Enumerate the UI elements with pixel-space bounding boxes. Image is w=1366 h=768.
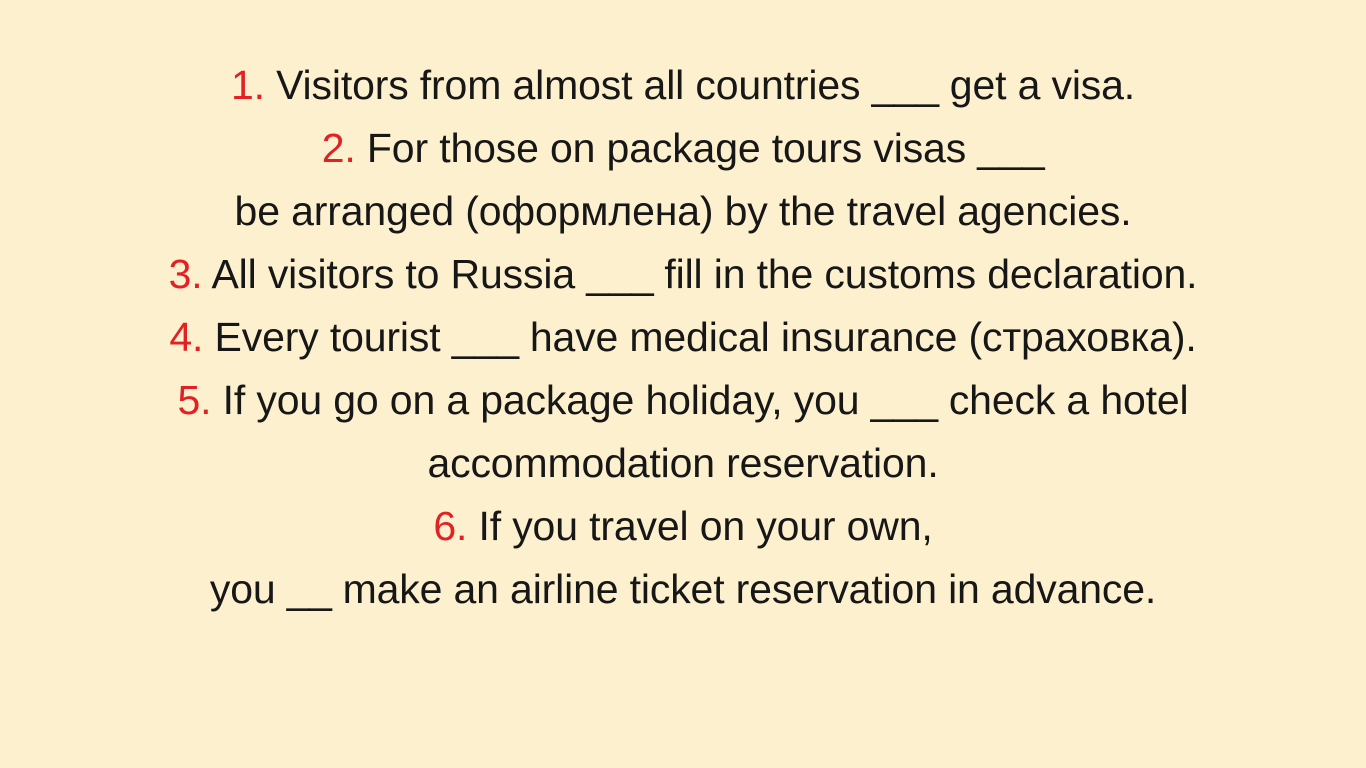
exercise-line-5: 4. Every tourist ___ have medical insura… bbox=[0, 306, 1366, 369]
item-text-9-before: you bbox=[210, 566, 287, 612]
item-text-1-before: Visitors from almost all countries bbox=[265, 62, 872, 108]
item-number-2: 2. bbox=[322, 125, 356, 171]
slide-canvas: 1. Visitors from almost all countries __… bbox=[0, 0, 1366, 768]
exercise-line-9: you __ make an airline ticket reservatio… bbox=[0, 558, 1366, 621]
item-text-5-after: have medical insurance (страховка). bbox=[519, 314, 1197, 360]
item-text-8-before: If you travel on your own, bbox=[467, 503, 932, 549]
exercise-line-8: 6. If you travel on your own, bbox=[0, 495, 1366, 558]
item-text-7-before: accommodation reservation. bbox=[427, 440, 938, 486]
exercise-line-7: accommodation reservation. bbox=[0, 432, 1366, 495]
fill-blank-2: ___ bbox=[977, 125, 1044, 171]
exercise-line-3: be arranged (оформлена) by the travel ag… bbox=[0, 180, 1366, 243]
fill-blank-9: __ bbox=[287, 566, 332, 612]
item-text-6-after: check a hotel bbox=[938, 377, 1189, 423]
item-number-8: 6. bbox=[433, 503, 467, 549]
item-text-3-before: be arranged (оформлена) by the travel ag… bbox=[235, 188, 1132, 234]
item-text-4-after: fill in the customs declaration. bbox=[653, 251, 1197, 297]
exercise-line-6: 5. If you go on a package holiday, you _… bbox=[0, 369, 1366, 432]
item-text-1-after: get a visa. bbox=[939, 62, 1135, 108]
item-text-2-before: For those on package tours visas bbox=[356, 125, 978, 171]
item-text-9-after: make an airline ticket reservation in ad… bbox=[331, 566, 1156, 612]
exercise-line-1: 1. Visitors from almost all countries __… bbox=[0, 54, 1366, 117]
item-number-1: 1. bbox=[231, 62, 265, 108]
exercise-sentence-list: 1. Visitors from almost all countries __… bbox=[0, 54, 1366, 621]
fill-blank-1: ___ bbox=[872, 62, 939, 108]
exercise-line-4: 3. All visitors to Russia ___ fill in th… bbox=[0, 243, 1366, 306]
item-number-6: 5. bbox=[178, 377, 212, 423]
fill-blank-4: ___ bbox=[586, 251, 653, 297]
fill-blank-5: ___ bbox=[452, 314, 519, 360]
fill-blank-6: ___ bbox=[871, 377, 938, 423]
item-text-5-before: Every tourist bbox=[203, 314, 451, 360]
exercise-line-2: 2. For those on package tours visas ___ bbox=[0, 117, 1366, 180]
item-number-5: 4. bbox=[169, 314, 203, 360]
item-number-4: 3. bbox=[169, 251, 203, 297]
item-text-4-before: All visitors to Russia bbox=[202, 251, 586, 297]
item-text-6-before: If you go on a package holiday, you bbox=[211, 377, 870, 423]
